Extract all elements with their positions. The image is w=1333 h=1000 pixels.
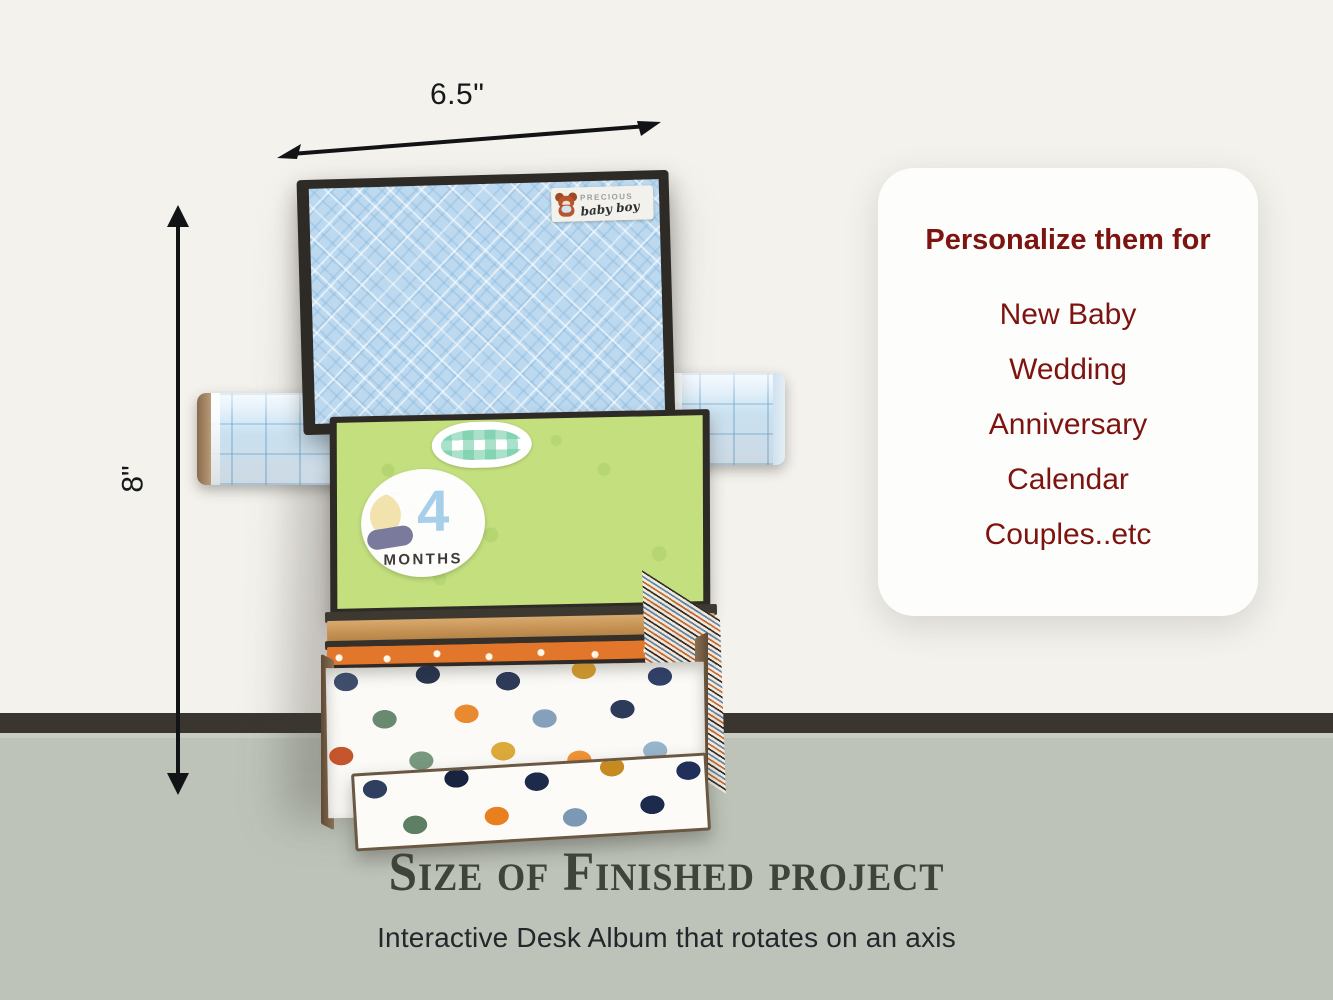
width-dimension-label: 6.5" (430, 78, 484, 112)
months-badge: 4 MONTHS (361, 468, 485, 579)
footer-subtitle: Interactive Desk Album that rotates on a… (0, 922, 1333, 954)
teddy-bear-icon (555, 192, 578, 217)
badge-caption: MONTHS (361, 550, 485, 570)
width-dimension-arrow (275, 112, 663, 160)
gingham-cloud-icon (432, 421, 532, 469)
width-arrow-icon (275, 112, 663, 160)
personalize-card-title: Personalize them for (878, 224, 1258, 257)
personalize-occasion-list: New Baby Wedding Anniversary Calendar Co… (878, 298, 1258, 573)
album-back-panel: PRECIOUS baby boy (297, 170, 676, 435)
album-back-panel-pattern: PRECIOUS baby boy (309, 179, 665, 424)
poster-canvas: 6.5" 8" (0, 0, 1333, 1000)
badge-number: 4 (417, 482, 449, 541)
height-dimension-label: 8" (117, 465, 151, 492)
list-item: New Baby (878, 298, 1258, 332)
list-item: Wedding (878, 353, 1258, 387)
right-roller-cap (773, 373, 785, 465)
product-photo: PRECIOUS baby boy 4 MONTHS (175, 165, 735, 825)
footer-title: Size of Finished project (47, 840, 1287, 903)
list-item: Anniversary (878, 408, 1258, 442)
personalize-card: Personalize them for New Baby Wedding An… (878, 168, 1258, 616)
precious-baby-boy-sticker: PRECIOUS baby boy (551, 185, 654, 222)
left-roller-cap (197, 393, 211, 485)
list-item: Couples..etc (878, 518, 1258, 552)
list-item: Calendar (878, 463, 1258, 497)
